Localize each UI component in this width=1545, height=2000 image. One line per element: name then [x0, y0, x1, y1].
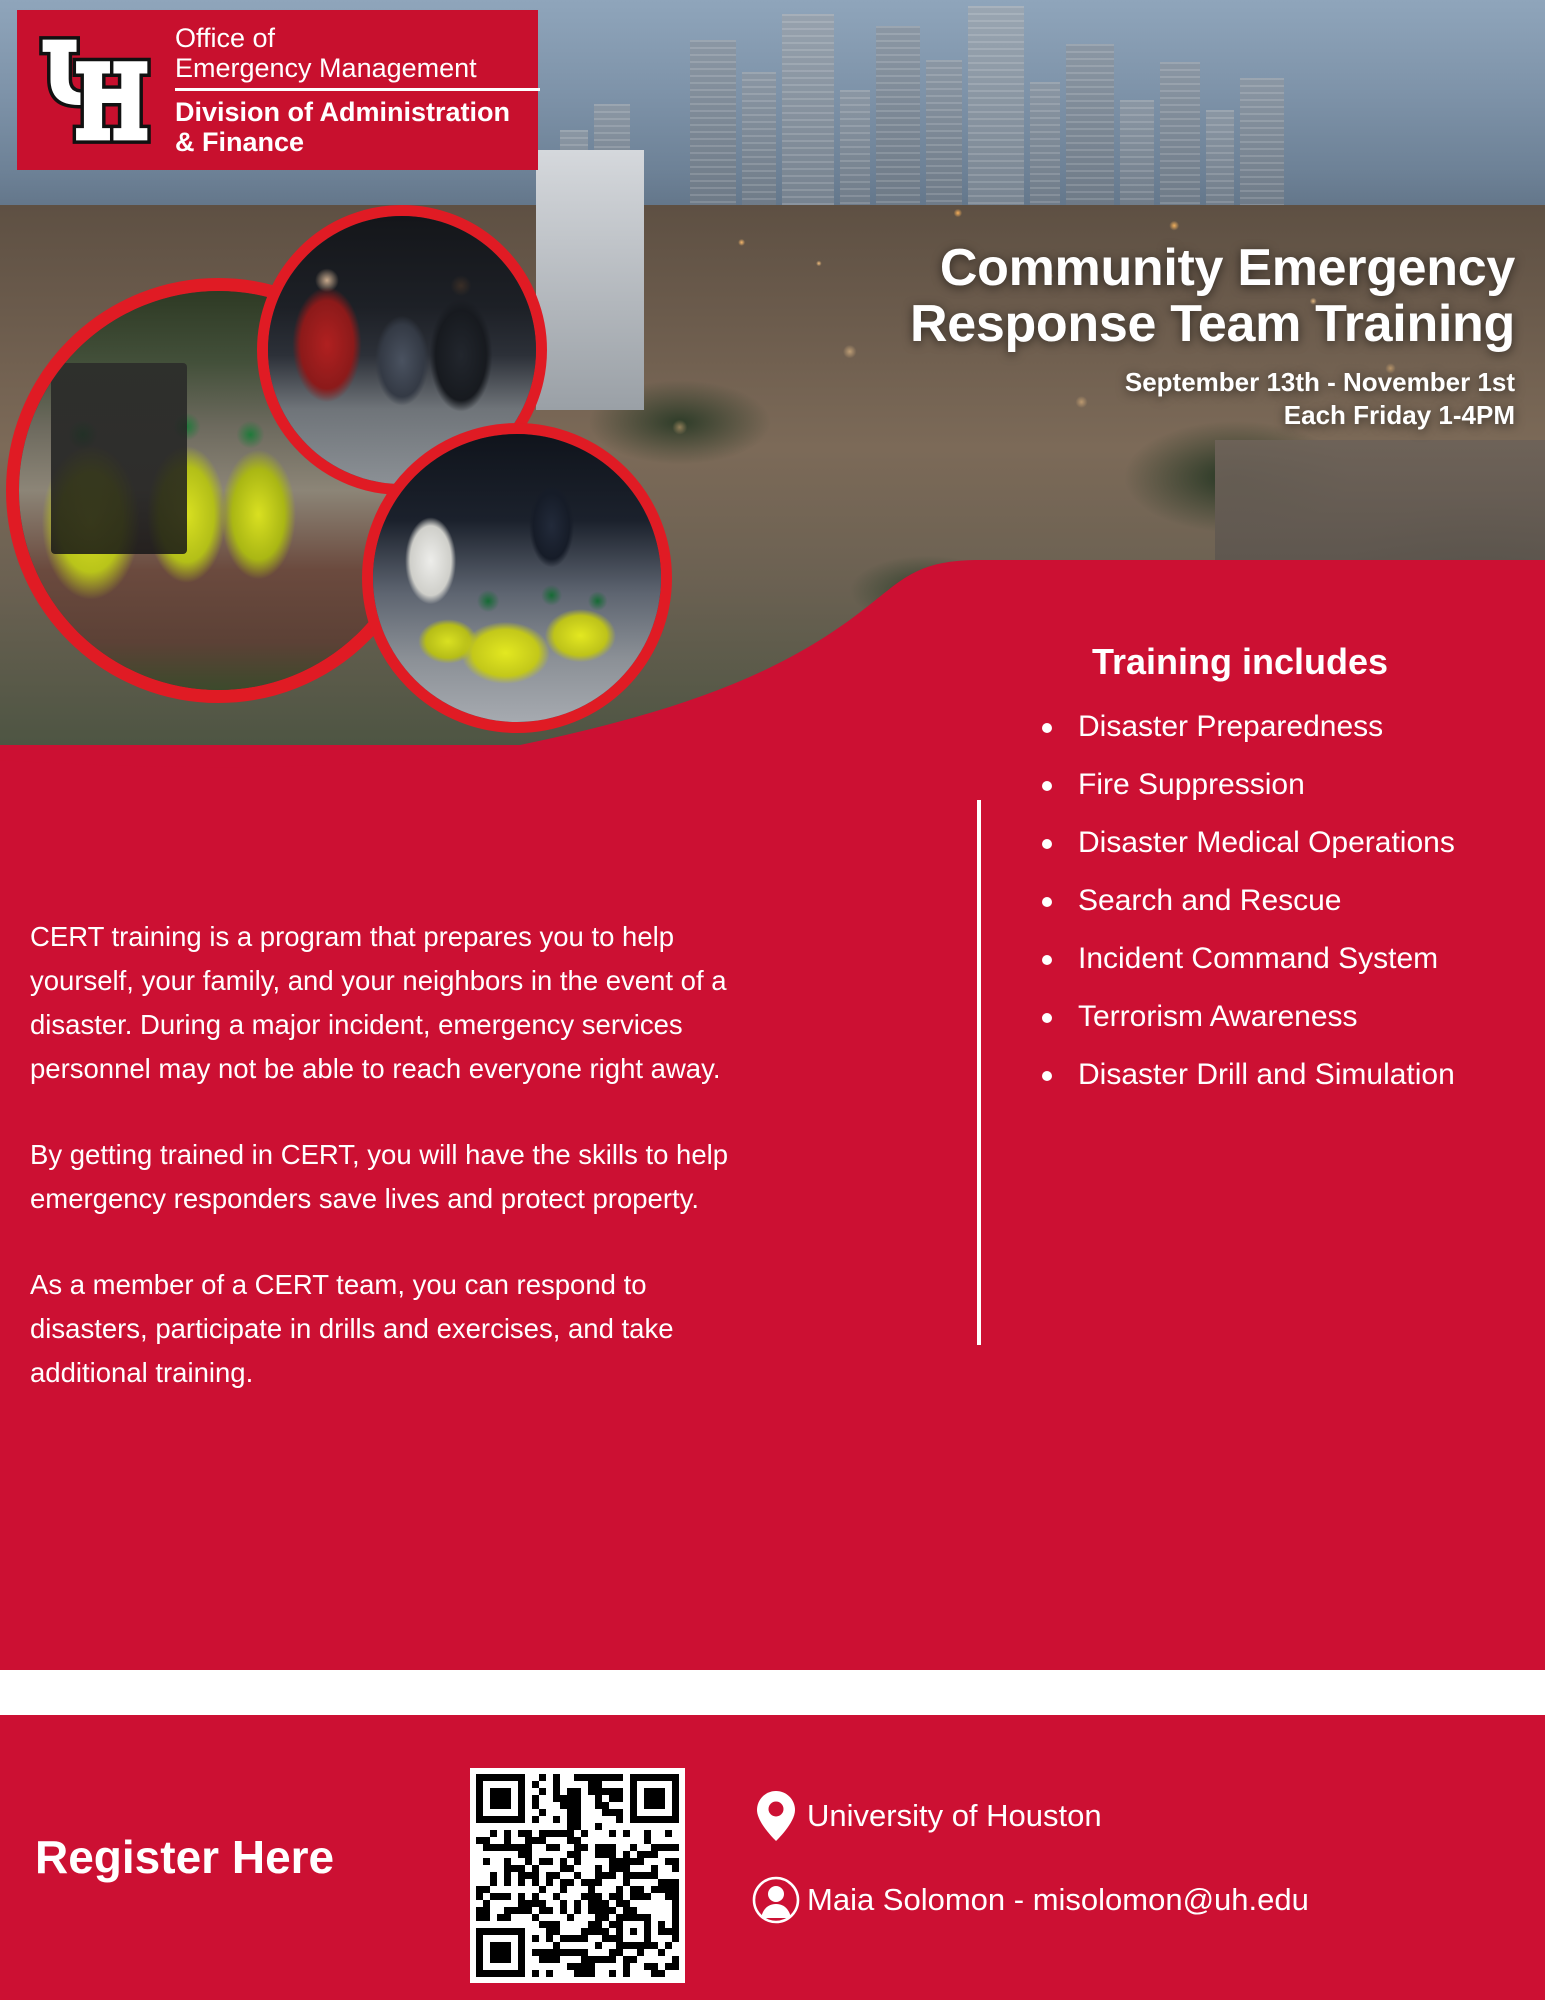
- page-title-line-2: Response Team Training: [910, 295, 1515, 353]
- body-paragraph-2: By getting trained in CERT, you will hav…: [30, 1133, 745, 1221]
- training-item-label: Fire Suppression: [1078, 768, 1305, 801]
- training-item-label: Disaster Preparedness: [1078, 710, 1383, 743]
- flyer-page: Office of Emergency Management Division …: [0, 0, 1545, 2000]
- white-office-tower: [536, 150, 644, 410]
- register-here-label: Register Here: [35, 1830, 455, 1884]
- bullet-icon: [1042, 781, 1052, 791]
- bullet-icon: [1042, 897, 1052, 907]
- list-item: Disaster Medical Operations: [1042, 814, 1520, 872]
- logo-line-1: Office of: [175, 23, 540, 53]
- location-label: University of Houston: [807, 1797, 1102, 1835]
- logo-text-block: Office of Emergency Management Division …: [175, 23, 540, 157]
- list-item: Disaster Preparedness: [1042, 698, 1520, 756]
- location-row: University of Houston: [745, 1790, 1535, 1842]
- uh-logo-bar: Office of Emergency Management Division …: [17, 10, 538, 170]
- contact-person-row: Maia Solomon - misolomon@uh.edu: [745, 1876, 1535, 1924]
- body-paragraph-3: As a member of a CERT team, you can resp…: [30, 1263, 745, 1395]
- uh-interlocking-logo-icon: [35, 30, 153, 150]
- logo-divider-rule: [175, 88, 540, 91]
- training-includes-list: Disaster Preparedness Fire Suppression D…: [1000, 698, 1520, 1104]
- user-account-icon: [745, 1876, 807, 1924]
- column-divider: [977, 800, 981, 1345]
- list-item: Terrorism Awareness: [1042, 988, 1520, 1046]
- page-title: Community Emergency Response Team Traini…: [875, 240, 1515, 352]
- bullet-icon: [1042, 723, 1052, 733]
- registration-qr-code[interactable]: [470, 1768, 685, 1983]
- bullet-icon: [1042, 955, 1052, 965]
- logo-line-2: Emergency Management: [175, 53, 540, 83]
- event-weekly-time: Each Friday 1-4PM: [875, 399, 1515, 432]
- page-title-line-1: Community Emergency: [940, 239, 1515, 297]
- logo-line-3: Division of Administration: [175, 97, 540, 127]
- body-text-column: CERT training is a program that prepares…: [30, 915, 745, 1395]
- photo-medical-drill: [362, 423, 672, 733]
- logo-line-4: & Finance: [175, 127, 540, 157]
- list-item: Fire Suppression: [1042, 756, 1520, 814]
- bullet-icon: [1042, 1013, 1052, 1023]
- training-includes-column: Training includes Disaster Preparedness …: [1000, 640, 1520, 1104]
- location-pin-icon: [745, 1790, 807, 1842]
- training-item-label: Incident Command System: [1078, 942, 1438, 975]
- contact-block: University of Houston Maia Solomon - mis…: [745, 1790, 1535, 1924]
- list-item: Incident Command System: [1042, 930, 1520, 988]
- body-paragraph-1: CERT training is a program that prepares…: [30, 915, 745, 1091]
- training-item-label: Terrorism Awareness: [1078, 1000, 1358, 1033]
- bullet-icon: [1042, 839, 1052, 849]
- list-item: Search and Rescue: [1042, 872, 1520, 930]
- contact-person-label: Maia Solomon - misolomon@uh.edu: [807, 1881, 1309, 1919]
- event-schedule: September 13th - November 1st Each Frida…: [875, 366, 1515, 432]
- list-item: Disaster Drill and Simulation: [1042, 1046, 1520, 1104]
- training-item-label: Disaster Medical Operations: [1078, 826, 1455, 859]
- event-date-range: September 13th - November 1st: [875, 366, 1515, 399]
- training-includes-heading: Training includes: [1000, 640, 1520, 684]
- bullet-icon: [1042, 1071, 1052, 1081]
- hero-title-block: Community Emergency Response Team Traini…: [875, 240, 1515, 432]
- training-item-label: Search and Rescue: [1078, 884, 1342, 917]
- footer-white-gap: [0, 1670, 1545, 1715]
- training-item-label: Disaster Drill and Simulation: [1078, 1058, 1455, 1091]
